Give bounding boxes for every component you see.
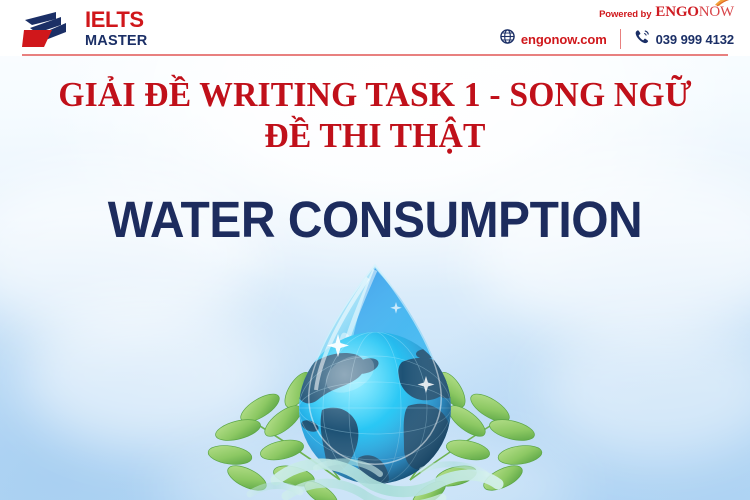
engonow-bold-part: ENGO bbox=[655, 4, 698, 20]
title-line-2: ĐỀ THI THẬT bbox=[15, 115, 735, 156]
phone-icon bbox=[634, 29, 650, 50]
header-bar: IELTS MASTER Powered by ENGONOW bbox=[0, 0, 750, 56]
contact-bar: engonow.com 039 999 4132 bbox=[500, 28, 734, 50]
water-droplet bbox=[296, 264, 458, 488]
contact-separator bbox=[620, 29, 621, 49]
website-text: engonow.com bbox=[521, 32, 607, 47]
subtitle-block: GIẢI ĐỀ WRITING TASK 1 - SONG NGỮ ĐỀ THI… bbox=[0, 74, 750, 156]
page-title: WATER CONSUMPTION bbox=[23, 190, 728, 250]
phone-link[interactable]: 039 999 4132 bbox=[634, 29, 734, 50]
water-droplet-globe-illustration bbox=[190, 258, 560, 500]
powered-by-block: Powered by ENGONOW bbox=[599, 5, 734, 21]
phone-text: 039 999 4132 bbox=[656, 32, 734, 47]
title-line-1: GIẢI ĐỀ WRITING TASK 1 - SONG NGỮ bbox=[15, 74, 735, 115]
globe-icon bbox=[500, 29, 515, 49]
engonow-wordmark[interactable]: ENGONOW bbox=[655, 3, 734, 21]
swoosh-icon bbox=[714, 0, 736, 12]
logo-line-master: MASTER bbox=[85, 34, 147, 49]
ielts-master-logo-icon bbox=[22, 9, 80, 49]
powered-by-label: Powered by bbox=[599, 9, 651, 21]
website-link[interactable]: engonow.com bbox=[500, 29, 607, 49]
poster-canvas: GIẢI ĐỀ WRITING TASK 1 - SONG NGỮ ĐỀ THI… bbox=[0, 0, 750, 500]
brand-logo[interactable]: IELTS MASTER bbox=[22, 8, 282, 50]
header-divider bbox=[22, 54, 728, 56]
logo-line-ielts: IELTS bbox=[85, 9, 147, 31]
